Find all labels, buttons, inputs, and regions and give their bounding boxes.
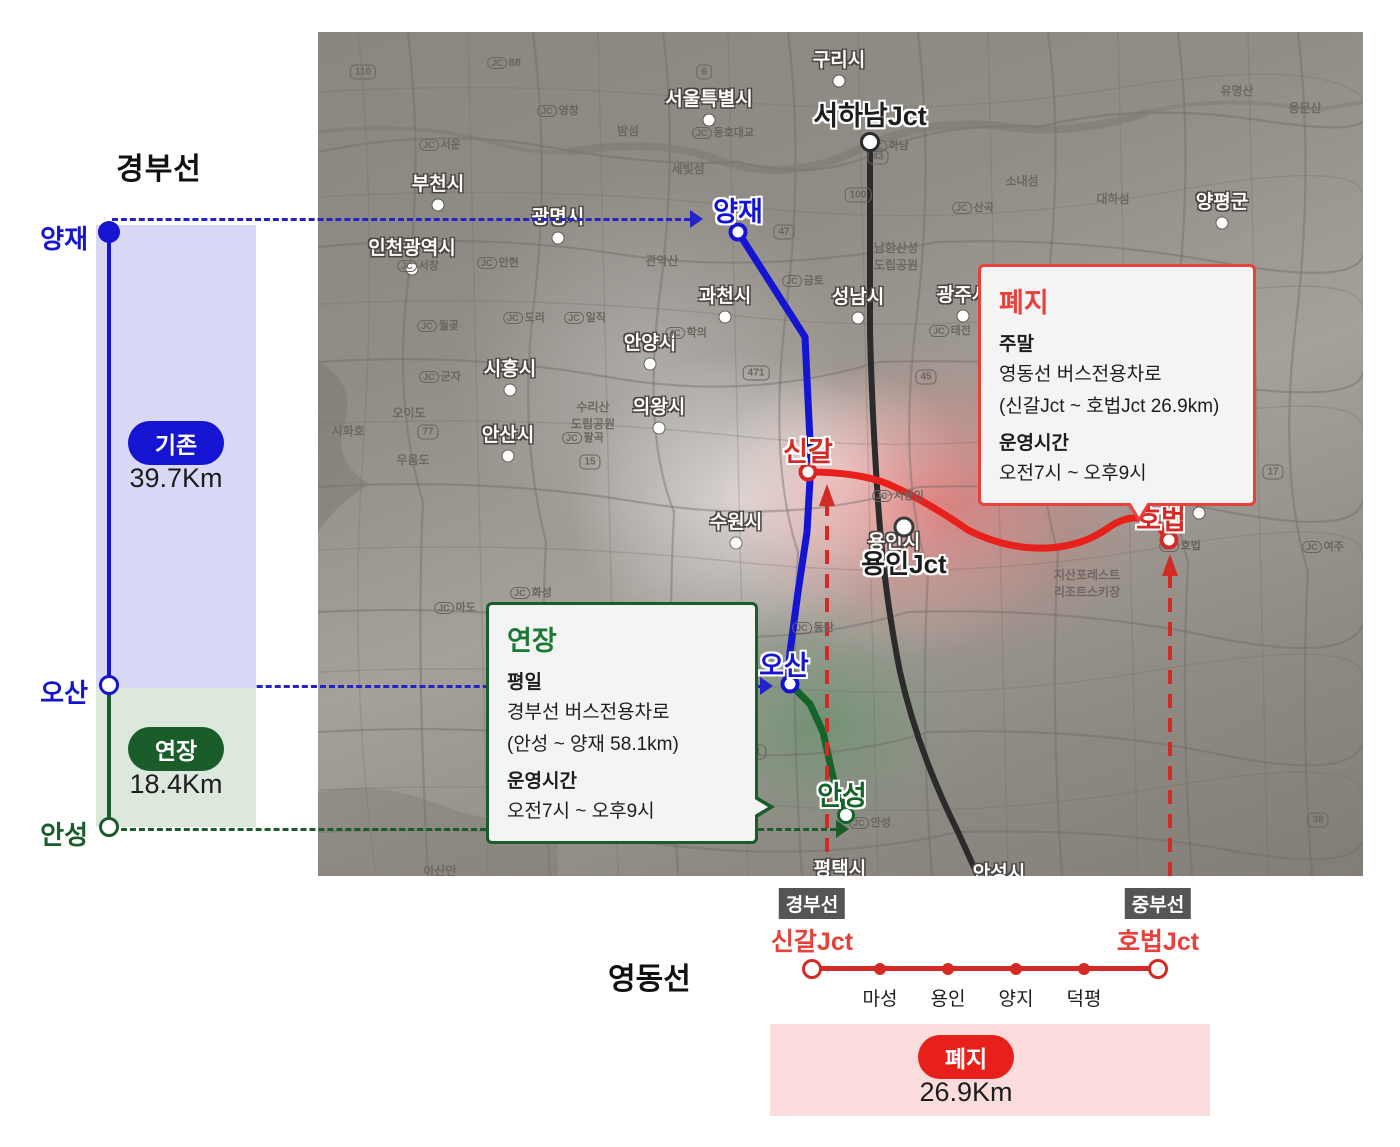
map-minor-label: 수리산 도립공원 [571, 398, 615, 432]
station-node-seohanam[interactable] [860, 132, 880, 152]
map-city-dot [958, 311, 969, 322]
yeongdong-stop-label-3: 덕평 [1067, 984, 1102, 1011]
map-city-label: 평택시 [814, 854, 866, 876]
map-route-shield: 6 [696, 65, 712, 80]
label-singal-jct: 신갈Jct [771, 922, 853, 958]
map-city-dot [433, 200, 444, 211]
callout-abolish-hours: 오전7시 ~ 오후9시 [999, 462, 1235, 487]
station-label-yongin-jct: 용인Jct [861, 544, 946, 581]
map-route-shield: 110 [350, 65, 376, 80]
map-city-label: 시흥시 [484, 354, 536, 381]
tag-gyeongbu: 경부선 [779, 888, 845, 919]
map-junction-marker: JC팔곡 [562, 429, 604, 445]
map-city-label: 서울특별시 [665, 84, 752, 111]
distance-existing: 39.7Km [96, 463, 256, 494]
map-city-label: 구리시 [813, 45, 865, 72]
map-city-dot [1217, 218, 1228, 229]
map-city-dot [834, 76, 845, 87]
yeongdong-endpoint-singal[interactable] [802, 959, 822, 979]
map-minor-label: 시화호 [331, 422, 364, 439]
map-minor-label: 밤섬 [617, 122, 639, 139]
map-city-label: 안산시 [482, 420, 534, 447]
map-route-shield: 45 [915, 370, 936, 385]
map-city-dot [731, 538, 742, 549]
callout-extend-hours: 오전7시 ~ 오후9시 [507, 800, 737, 825]
map-city-label: 양평군 [1196, 187, 1248, 214]
callout-abolish-day: 주말 [999, 329, 1235, 356]
map-city-label: 인천광역시 [368, 233, 455, 260]
callout-extend-tail-inner [753, 798, 768, 816]
gyeongbu-line-diagram: 경부선 양재 오산 안성 기존 39.7Km 연장 18.4Km [0, 140, 318, 860]
callout-extend-day: 평일 [507, 667, 737, 694]
map-city-label: 수원시 [710, 507, 762, 534]
yeongdong-stop-dot-1[interactable] [942, 963, 954, 975]
callout-extend-title: 연장 [507, 619, 737, 658]
map-junction-marker: JC서용인 [872, 487, 924, 503]
map-route-shield: 15 [579, 455, 600, 470]
diagram-node-yangjae[interactable] [98, 221, 120, 243]
callout-abolish-tail-inner [1130, 502, 1148, 517]
station-label-seohanam: 서하남Jct [813, 94, 927, 133]
distance-extend: 18.4Km [96, 769, 256, 800]
map-route-shield: 38 [1307, 813, 1328, 828]
map-route-shield: 77 [417, 425, 438, 440]
map-junction-marker: JC군자 [419, 368, 461, 384]
map-junction-marker: JC서창 [397, 257, 439, 273]
map-junction-marker: JC여주 [1302, 538, 1344, 554]
map-city-label: 과천시 [699, 281, 751, 308]
callout-extend[interactable]: 연장 평일 경부선 버스전용차로 (안성 ~ 양재 58.1km) 운영시간 오… [486, 602, 758, 844]
distance-abolish: 26.9Km [870, 1077, 1062, 1108]
callout-abolish-hours-label: 운영시간 [999, 428, 1235, 455]
map-minor-label: 우음도 [396, 451, 429, 468]
yeongdong-stop-dot-3[interactable] [1078, 963, 1090, 975]
map-city-label: 부천시 [412, 169, 464, 196]
badge-abolish: 폐지 [918, 1035, 1014, 1079]
map-junction-marker: JC안성 [849, 814, 891, 830]
diagram-label-osan: 오산 [4, 673, 88, 710]
callout-extend-route: 경부선 버스전용차로 [507, 701, 737, 726]
yeongdong-endpoint-hobeop[interactable] [1148, 959, 1168, 979]
map-minor-label: 남한산성 도립공원 [874, 239, 918, 273]
map-junction-marker: JC동탄 [792, 619, 834, 635]
yeongdong-stop-dot-0[interactable] [874, 963, 886, 975]
gyeongbu-diagram-title: 경부선 [0, 144, 318, 188]
map-city-dot [720, 312, 731, 323]
map-city-label: 의왕시 [633, 392, 685, 419]
yeongdong-diagram-title: 영동선 [608, 954, 691, 998]
station-label-singal: 신갈 [783, 430, 833, 469]
map-junction-marker: JC산곡 [952, 199, 994, 215]
map-minor-label: 오이도 [392, 404, 425, 421]
station-label-osan: 오산 [759, 644, 809, 683]
map-city-dot [853, 313, 864, 324]
map-minor-label: 대하섬 [1096, 190, 1129, 207]
map-minor-label: 소내섬 [1005, 172, 1038, 189]
callout-extend-hours-label: 운영시간 [507, 766, 737, 793]
diagram-node-osan[interactable] [99, 675, 119, 695]
station-label-ansung: 안성 [817, 774, 867, 813]
connector-yangjae-arrow [690, 210, 703, 228]
diagram-label-ansung: 안성 [4, 815, 88, 852]
station-label-yangjae: 양재 [713, 190, 763, 229]
callout-abolish-title: 폐지 [999, 281, 1235, 320]
map-route-shield: 47 [773, 225, 794, 240]
callout-abolish-route-detail: (신갈Jct ~ 호법Jct 26.9km) [999, 395, 1235, 420]
diagram-label-yangjae: 양재 [4, 219, 88, 256]
map-junction-marker: JC서운 [419, 136, 461, 152]
map-city-dot [505, 385, 516, 396]
map-junction-marker: JC화성 [510, 584, 552, 600]
callout-abolish-route: 영동선 버스전용차로 [999, 363, 1235, 388]
map-junction-marker: JC마도 [434, 599, 476, 615]
badge-existing: 기존 [128, 421, 224, 465]
label-hobeop-jct: 호법Jct [1117, 922, 1199, 958]
map-minor-label: 세빛섬 [671, 160, 704, 177]
badge-extend: 연장 [128, 727, 224, 771]
map-route-shield: 100 [845, 188, 872, 203]
yeongdong-stop-label-1: 용인 [931, 984, 966, 1011]
map-junction-marker: JC동호대교 [692, 124, 754, 140]
map-minor-label: 아산만 [423, 862, 456, 876]
callout-extend-route-detail: (안성 ~ 양재 58.1km) [507, 733, 737, 758]
map-junction-marker: JC안현 [477, 254, 519, 270]
tag-jungbu: 중부선 [1125, 888, 1191, 919]
map-city-dot [553, 233, 564, 244]
map-junction-marker: JC영창 [537, 102, 579, 118]
map-junction-marker: JC도리 [503, 309, 545, 325]
map-city-dot [1194, 508, 1205, 519]
map-city-label: 성남시 [832, 282, 884, 309]
map-junction-marker: JC월곶 [417, 317, 459, 333]
yeongdong-line-diagram: 영동선 경부선 중부선 신갈Jct 호법Jct 마성 용인 양지 덕평 폐지 2… [590, 880, 1230, 1120]
map-city-dot [503, 451, 514, 462]
map-junction-marker: JC일직 [564, 309, 606, 325]
map-city-dot [645, 359, 656, 370]
callout-abolish[interactable]: 폐지 주말 영동선 버스전용차로 (신갈Jct ~ 호법Jct 26.9km) … [978, 264, 1256, 506]
yeongdong-stop-label-2: 양지 [999, 984, 1034, 1011]
map-minor-label: 관악산 [645, 252, 678, 269]
map-panel[interactable]: 서울특별시구리시인천광역시부천시광명시과천시성남시광주시안양시시흥시의왕시안산시… [318, 32, 1363, 876]
yeongdong-stop-dot-2[interactable] [1010, 963, 1022, 975]
map-city-label: 안성시 [973, 858, 1025, 876]
diagram-node-ansung[interactable] [99, 817, 119, 837]
map-route-shield: 471 [743, 366, 770, 381]
map-minor-label: 용문산 [1288, 99, 1321, 116]
map-junction-marker: JC금토 [782, 272, 824, 288]
map-route-shield: 17 [1262, 465, 1283, 480]
yeongdong-track [812, 966, 1158, 971]
map-city-label: 광명시 [532, 202, 584, 229]
map-minor-label: 지산포레스트 리조트스키장 [1054, 566, 1120, 600]
map-junction-marker: JC88 [487, 57, 521, 69]
map-city-dot [654, 423, 665, 434]
map-junction-marker: JC태전 [929, 322, 971, 338]
map-junction-marker: JC학의 [665, 324, 707, 340]
yeongdong-stop-label-0: 마성 [863, 984, 898, 1011]
axis-extend [107, 686, 111, 828]
station-node-yongin-jct[interactable] [894, 517, 915, 538]
map-minor-label: 유명산 [1220, 82, 1253, 99]
